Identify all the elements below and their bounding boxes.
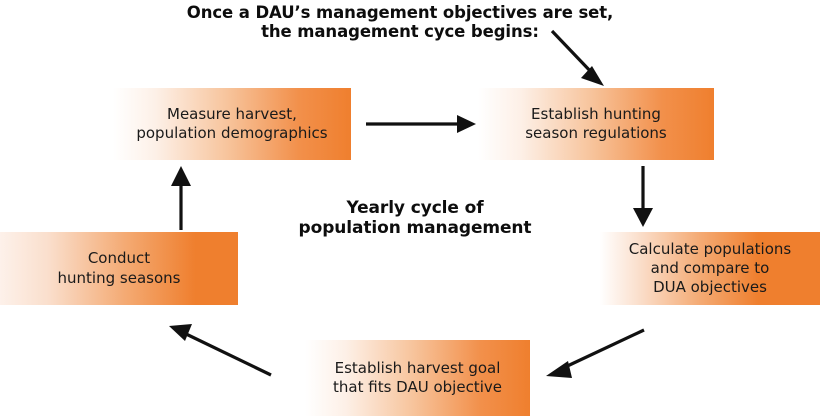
node-measure-harvest: Measure harvest, population demographics bbox=[113, 88, 351, 160]
node-establish-hunting-season-regulations: Establish hunting season regulations bbox=[478, 88, 714, 160]
node-calculate-populations: Calculate populations and compare to DUA… bbox=[600, 232, 820, 305]
arrow-harvest-goal-to-conduct bbox=[169, 324, 271, 375]
node-establish-harvest-goal: Establish harvest goal that fits DAU obj… bbox=[305, 340, 530, 416]
cycle-center-caption: Yearly cycle of population management bbox=[275, 198, 555, 238]
arrow-conduct-to-measure bbox=[171, 166, 191, 230]
diagram-title: Once a DAU’s management objectives are s… bbox=[150, 3, 650, 42]
arrow-measure-to-establish-regulations bbox=[366, 115, 476, 133]
diagram-canvas: Once a DAU’s management objectives are s… bbox=[0, 0, 820, 416]
node-conduct-hunting-seasons: Conduct hunting seasons bbox=[0, 232, 238, 305]
arrow-calculate-to-harvest-goal bbox=[546, 330, 644, 378]
arrow-establish-regulations-to-calculate bbox=[633, 166, 653, 227]
